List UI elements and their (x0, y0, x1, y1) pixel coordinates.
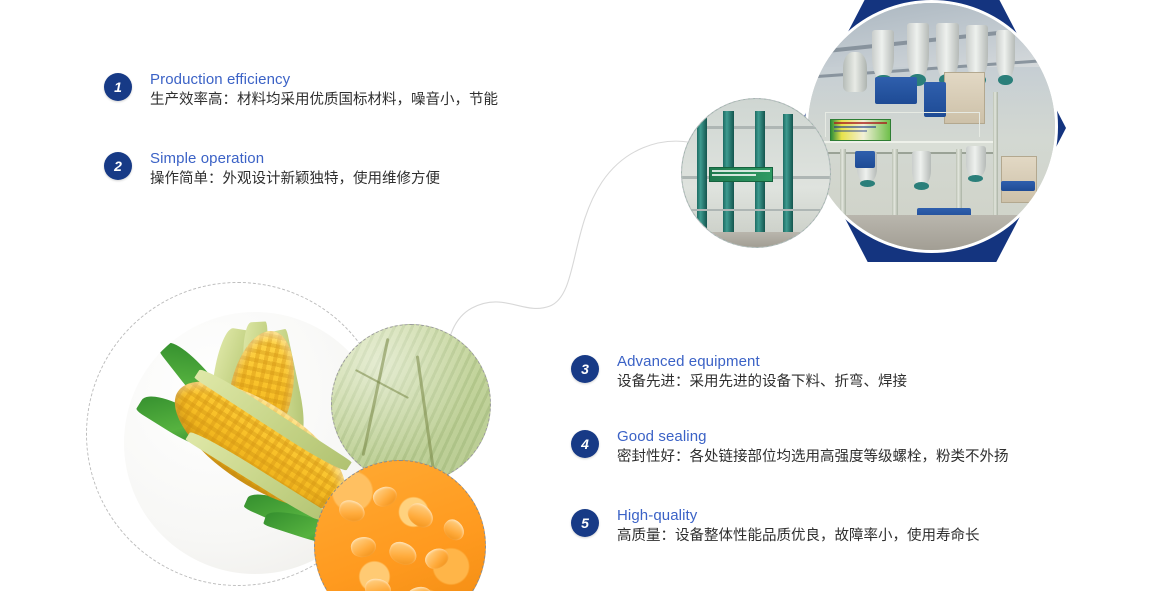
feature-title-4: Good sealing (617, 427, 1009, 446)
feature-desc-1: 生产效率高：材料均采用优质国标材料，噪音小，节能 (150, 89, 498, 111)
machinery-scene-illustration (808, 3, 1055, 250)
feature-item-5: 5 High-quality 高质量：设备整体性能品质优良，故障率小，使用寿命长 (571, 509, 980, 547)
green-machinery-sign (709, 167, 773, 182)
feature-text-1: Production efficiency 生产效率高：材料均采用优质国标材料，… (150, 70, 498, 111)
feature-desc-2: 操作简单：外观设计新颖独特，使用维修方便 (150, 168, 440, 190)
feature-badge-3: 3 (571, 355, 599, 383)
feature-text-3: Advanced equipment 设备先进：采用先进的设备下料、折弯、焊接 (617, 352, 907, 393)
machinery-media-group (663, 0, 1083, 274)
feature-title-5: High-quality (617, 506, 980, 525)
feature-badge-2: 2 (104, 152, 132, 180)
feature-text-2: Simple operation 操作简单：外观设计新颖独特，使用维修方便 (150, 149, 440, 190)
feature-desc-5: 高质量：设备整体性能品质优良，故障率小，使用寿命长 (617, 525, 980, 547)
feature-item-4: 4 Good sealing 密封性好：各处链接部位均选用高强度等级螺栓，粉类不… (571, 430, 1009, 468)
feature-text-5: High-quality 高质量：设备整体性能品质优良，故障率小，使用寿命长 (617, 506, 980, 547)
feature-item-1: 1 Production efficiency 生产效率高：材料均采用优质国标材… (104, 73, 498, 111)
feature-title-3: Advanced equipment (617, 352, 907, 371)
feature-desc-4: 密封性好：各处链接部位均选用高强度等级螺栓，粉类不外扬 (617, 446, 1009, 468)
feature-title-2: Simple operation (150, 149, 440, 168)
machinery-photo-main (805, 0, 1058, 253)
corn-media-group (86, 282, 486, 591)
feature-desc-3: 设备先进：采用先进的设备下料、折弯、焊接 (617, 371, 907, 393)
green-machinery-illustration (682, 99, 830, 247)
machinery-photo-small (681, 98, 831, 248)
feature-text-4: Good sealing 密封性好：各处链接部位均选用高强度等级螺栓，粉类不外扬 (617, 427, 1009, 468)
feature-item-2: 2 Simple operation 操作简单：外观设计新颖独特，使用维修方便 (104, 152, 440, 190)
feature-title-1: Production efficiency (150, 70, 498, 89)
feature-badge-5: 5 (571, 509, 599, 537)
feature-badge-1: 1 (104, 73, 132, 101)
feature-badge-4: 4 (571, 430, 599, 458)
feature-infographic-page: 1 Production efficiency 生产效率高：材料均采用优质国标材… (0, 0, 1154, 591)
feature-item-3: 3 Advanced equipment 设备先进：采用先进的设备下料、折弯、焊… (571, 355, 907, 393)
